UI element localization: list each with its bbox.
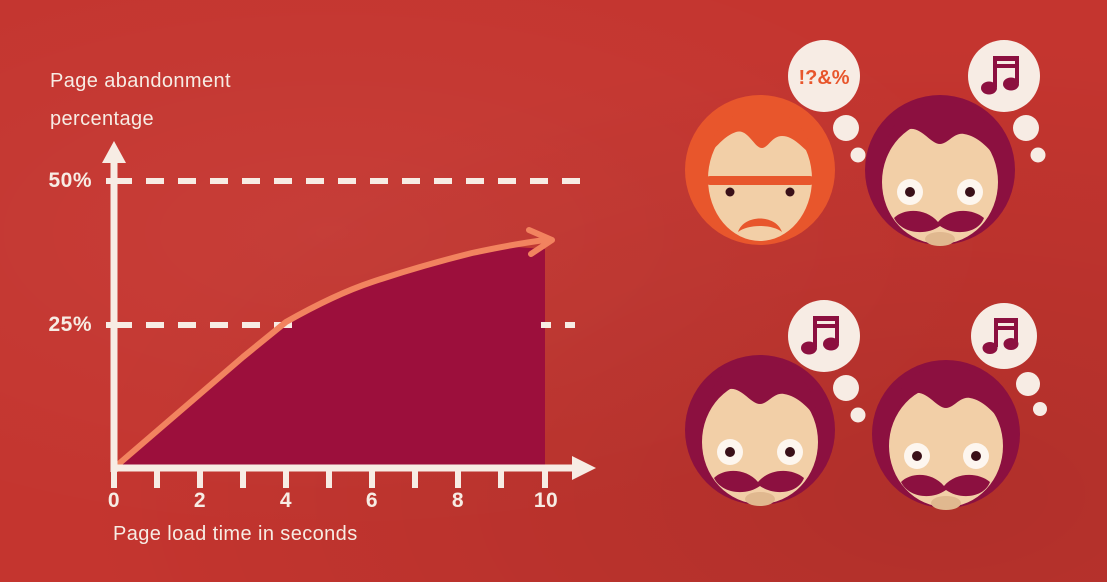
face-angry-illustration: !?&%	[678, 36, 888, 296]
x-tick-label-2: 2	[194, 489, 206, 513]
thought-bubble-medium	[833, 375, 859, 401]
x-tick-label-10: 10	[534, 489, 558, 513]
lower-lip	[745, 492, 775, 506]
x-axis-arrowhead	[572, 456, 596, 480]
left-eye-pupil	[912, 451, 922, 461]
x-tick-label-0: 0	[108, 489, 120, 513]
x-tick-label-6: 6	[366, 489, 378, 513]
right-eye-pupil	[785, 447, 795, 457]
angry-brow-bar	[706, 176, 814, 185]
thought-bubble-small	[1031, 148, 1046, 163]
face-happy-3	[868, 296, 1078, 556]
x-axis-title: Page load time in seconds	[113, 523, 358, 546]
thought-bubble-large	[968, 40, 1040, 112]
left-eye	[726, 188, 735, 197]
face-happy-1	[858, 36, 1068, 296]
face-angry: !?&%	[678, 36, 888, 296]
face-happy-2-illustration	[678, 296, 888, 556]
lower-lip	[925, 232, 955, 246]
thought-bubble-medium	[1013, 115, 1039, 141]
right-eye	[786, 188, 795, 197]
thought-bubble-medium	[1016, 372, 1040, 396]
x-tick-label-4: 4	[280, 489, 292, 513]
lower-lip	[931, 496, 961, 510]
left-eye-pupil	[725, 447, 735, 457]
y-tick-label-50: 50%	[30, 169, 92, 193]
right-eye-pupil	[965, 187, 975, 197]
thought-bubble-large	[971, 303, 1037, 369]
left-eye-pupil	[905, 187, 915, 197]
thought-bubble-small	[851, 408, 866, 423]
y-axis-title: Page abandonment percentage	[50, 62, 300, 138]
thought-bubble-medium	[833, 115, 859, 141]
thought-bubble-small	[1033, 402, 1047, 416]
area-fill	[114, 246, 545, 468]
right-eye-pupil	[971, 451, 981, 461]
face-happy-1-illustration	[858, 36, 1068, 296]
thought-bubble-large	[788, 300, 860, 372]
face-happy-2	[678, 296, 888, 556]
y-axis-arrowhead	[102, 141, 126, 163]
chart-panel: Page abandonment percentage Page load ti…	[0, 0, 640, 582]
x-tick-label-8: 8	[452, 489, 464, 513]
thought-bubble-text: !?&%	[798, 67, 849, 89]
faces-panel: !?&%	[640, 0, 1107, 582]
face-happy-3-illustration	[868, 296, 1078, 556]
infographic-root: Page abandonment percentage Page load ti…	[0, 0, 1107, 582]
y-tick-label-25: 25%	[30, 313, 92, 337]
